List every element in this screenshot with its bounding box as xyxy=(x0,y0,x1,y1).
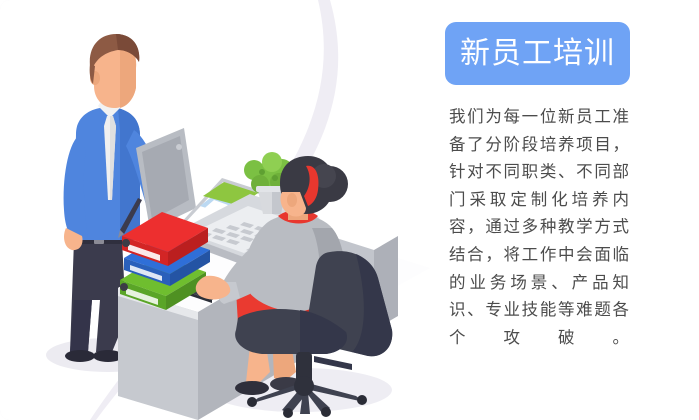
binder-green-ring xyxy=(120,283,128,291)
training-banner: 新员工培训 我们为每一位新员工准备了分阶段培养项目，针对不同职类、不同部门采取定… xyxy=(0,0,699,420)
chair-caster-3 xyxy=(283,408,293,418)
woman-ear xyxy=(287,193,297,207)
tablet-camera xyxy=(176,144,182,150)
title-badge: 新员工培训 xyxy=(445,22,630,85)
man-shoe-left xyxy=(65,350,95,362)
chair-lever xyxy=(314,356,352,370)
chair-caster-4 xyxy=(321,407,331,417)
woman-shoe-front xyxy=(235,381,269,395)
chair-base-hub xyxy=(294,376,314,396)
chair-caster-2 xyxy=(357,395,367,405)
chair-caster-1 xyxy=(247,397,257,407)
binder-red-ring xyxy=(122,239,130,247)
page-title: 新员工培训 xyxy=(460,39,615,69)
office-training-illustration xyxy=(0,0,430,420)
body-description: 我们为每一位新员工准备了分阶段培养项目，针对不同职类、不同部门采取定制化培养内容… xyxy=(449,104,629,352)
